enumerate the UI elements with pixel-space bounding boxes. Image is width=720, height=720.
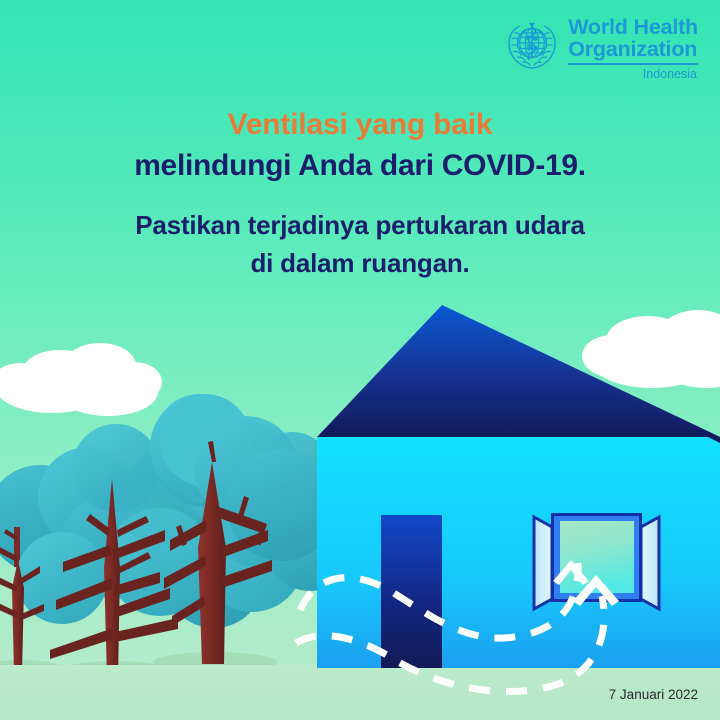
- house-door: [381, 515, 442, 668]
- window-shutter-right: [641, 517, 659, 609]
- ground-band: [0, 665, 720, 720]
- poster-canvas: World Health Organization Indonesia Vent…: [0, 0, 720, 720]
- window: [534, 513, 659, 609]
- illustration-layer: [0, 0, 720, 720]
- window-shutter-left: [534, 517, 552, 609]
